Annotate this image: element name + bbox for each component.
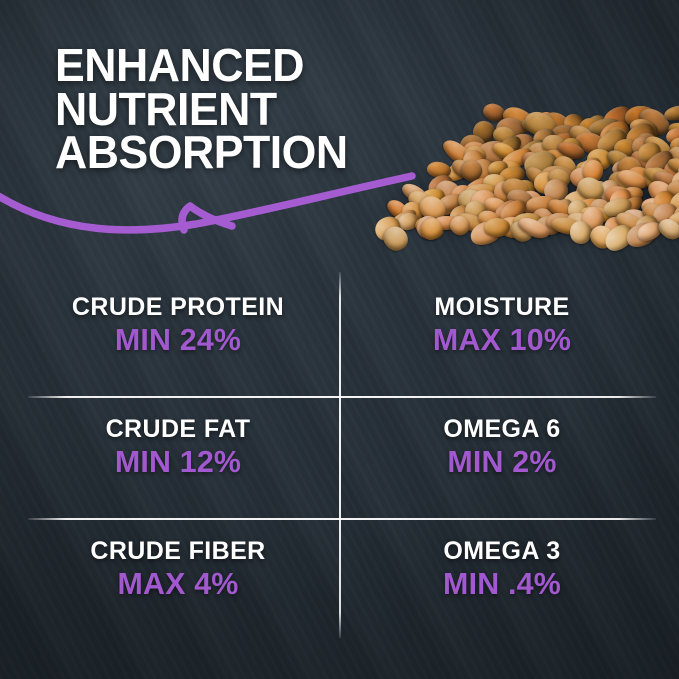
analysis-cell-crude-fiber: CRUDE FIBER MAX 4% bbox=[18, 538, 338, 601]
headline-line-1: ENHANCED bbox=[55, 44, 348, 88]
analysis-cell-omega-6: OMEGA 6 MIN 2% bbox=[342, 416, 662, 479]
grid-divider-horizontal-1 bbox=[28, 396, 656, 398]
grid-divider-horizontal-2 bbox=[28, 518, 656, 520]
analysis-value: MAX 10% bbox=[345, 324, 659, 357]
analysis-value: MAX 4% bbox=[21, 568, 335, 601]
analysis-cell-crude-protein: CRUDE PROTEIN MIN 24% bbox=[18, 294, 338, 357]
infographic-panel: ENHANCED NUTRIENT ABSORPTION CRUDE PROTE… bbox=[0, 0, 679, 679]
analysis-value: MIN 12% bbox=[21, 446, 335, 479]
analysis-label: MOISTURE bbox=[342, 294, 662, 320]
analysis-cell-omega-3: OMEGA 3 MIN .4% bbox=[342, 538, 662, 601]
analysis-label: CRUDE FIBER bbox=[18, 538, 338, 564]
analysis-value: MIN .4% bbox=[345, 568, 659, 601]
analysis-grid: CRUDE PROTEIN MIN 24% MOISTURE MAX 10% C… bbox=[0, 262, 679, 662]
kibble-piece bbox=[483, 217, 510, 237]
curved-arrow-icon bbox=[0, 150, 430, 280]
headline-line-2: NUTRIENT bbox=[55, 88, 348, 132]
analysis-value: MIN 24% bbox=[21, 324, 335, 357]
analysis-cell-moisture: MOISTURE MAX 10% bbox=[342, 294, 662, 357]
analysis-label: CRUDE FAT bbox=[18, 416, 338, 442]
analysis-value: MIN 2% bbox=[345, 446, 659, 479]
arrow-shaft bbox=[0, 176, 412, 230]
analysis-label: CRUDE PROTEIN bbox=[18, 294, 338, 320]
analysis-cell-crude-fat: CRUDE FAT MIN 12% bbox=[18, 416, 338, 479]
analysis-label: OMEGA 3 bbox=[342, 538, 662, 564]
analysis-label: OMEGA 6 bbox=[342, 416, 662, 442]
kibble-pile-image bbox=[368, 52, 679, 232]
grid-divider-vertical bbox=[339, 272, 341, 638]
